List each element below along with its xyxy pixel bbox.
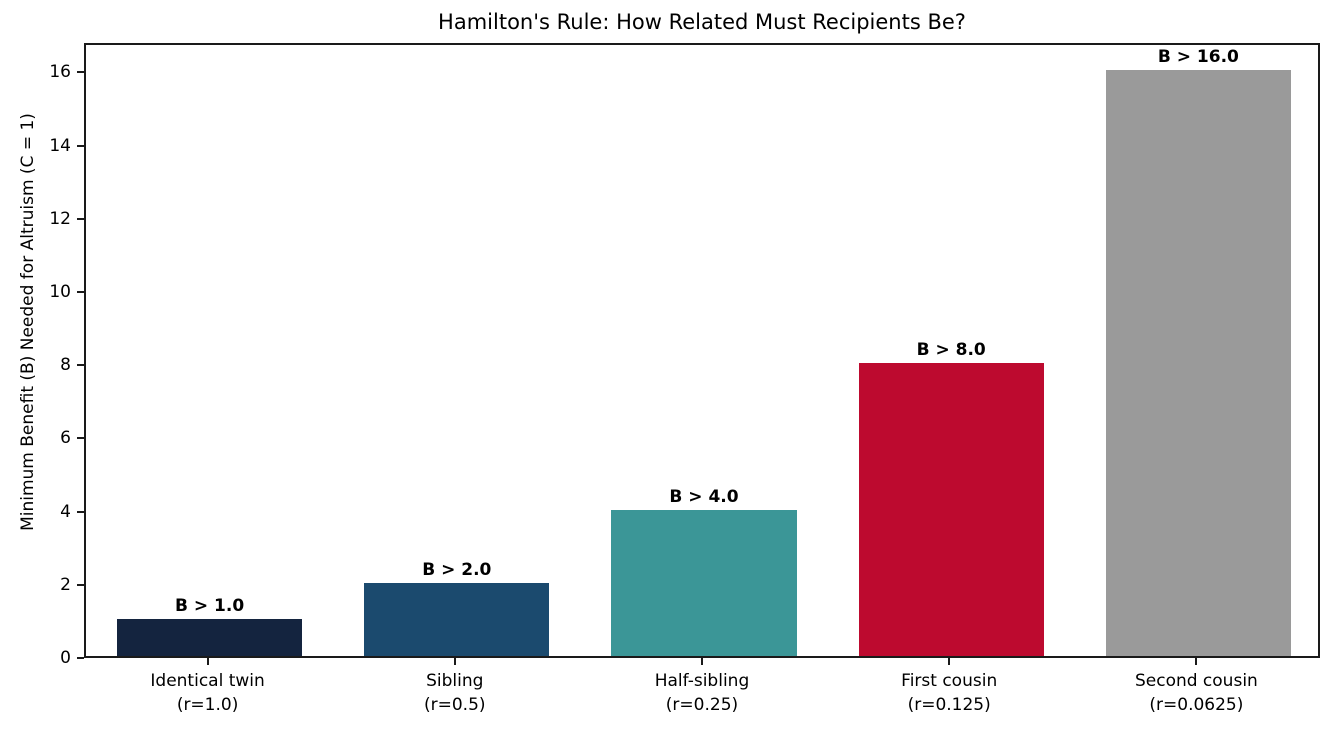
x-tick-label-name: Identical twin <box>150 671 264 691</box>
y-tick-mark <box>77 145 84 147</box>
x-tick-mark <box>948 658 950 665</box>
x-tick-label-relatedness: (r=0.5) <box>331 693 578 717</box>
x-tick-label: First cousin(r=0.125) <box>826 669 1073 717</box>
bar <box>117 619 302 656</box>
bar-value-label: B > 2.0 <box>364 559 549 581</box>
x-tick-label: Second cousin(r=0.0625) <box>1073 669 1320 717</box>
x-tick-label: Sibling(r=0.5) <box>331 669 578 717</box>
y-tick-mark <box>77 364 84 366</box>
bar-value-label: B > 1.0 <box>117 595 302 617</box>
x-tick-mark <box>1195 658 1197 665</box>
x-tick-label: Identical twin(r=1.0) <box>84 669 331 717</box>
y-axis-ticks: 0246810121416 <box>0 43 84 658</box>
y-tick-label: 0 <box>60 646 71 670</box>
bar-value-label: B > 8.0 <box>859 339 1044 361</box>
y-tick-label: 2 <box>60 573 71 597</box>
y-tick-mark <box>77 657 84 659</box>
bar <box>364 583 549 656</box>
chart-figure: Hamilton's Rule: How Related Must Recipi… <box>0 0 1334 730</box>
x-axis-ticks: Identical twin(r=1.0)Sibling(r=0.5)Half-… <box>84 658 1320 730</box>
y-tick-mark <box>77 218 84 220</box>
x-tick-label-name: Sibling <box>426 671 483 691</box>
x-tick-label-name: Second cousin <box>1135 671 1258 691</box>
y-tick-label: 12 <box>49 207 71 231</box>
y-tick-label: 4 <box>60 500 71 524</box>
x-tick-label-relatedness: (r=0.25) <box>578 693 825 717</box>
x-tick-label-name: First cousin <box>901 671 997 691</box>
y-tick-mark <box>77 437 84 439</box>
y-tick-mark <box>77 584 84 586</box>
y-tick-label: 8 <box>60 353 71 377</box>
y-tick-label: 10 <box>49 280 71 304</box>
x-tick-mark <box>207 658 209 665</box>
x-tick-label-relatedness: (r=1.0) <box>84 693 331 717</box>
x-tick-label: Half-sibling(r=0.25) <box>578 669 825 717</box>
x-tick-label-name: Half-sibling <box>655 671 750 691</box>
y-tick-mark <box>77 291 84 293</box>
chart-title: Hamilton's Rule: How Related Must Recipi… <box>84 8 1320 36</box>
x-tick-mark <box>701 658 703 665</box>
bar <box>859 363 1044 656</box>
y-tick-label: 14 <box>49 134 71 158</box>
x-tick-label-relatedness: (r=0.0625) <box>1073 693 1320 717</box>
y-tick-mark <box>77 511 84 513</box>
bar <box>611 510 796 656</box>
bar-value-label: B > 4.0 <box>611 486 796 508</box>
y-tick-label: 6 <box>60 426 71 450</box>
x-tick-mark <box>454 658 456 665</box>
bar <box>1106 70 1291 656</box>
bar-value-label: B > 16.0 <box>1106 46 1291 68</box>
y-tick-mark <box>77 71 84 73</box>
plot-area: B > 1.0B > 2.0B > 4.0B > 8.0B > 16.0 <box>84 43 1320 658</box>
x-tick-label-relatedness: (r=0.125) <box>826 693 1073 717</box>
y-tick-label: 16 <box>49 60 71 84</box>
